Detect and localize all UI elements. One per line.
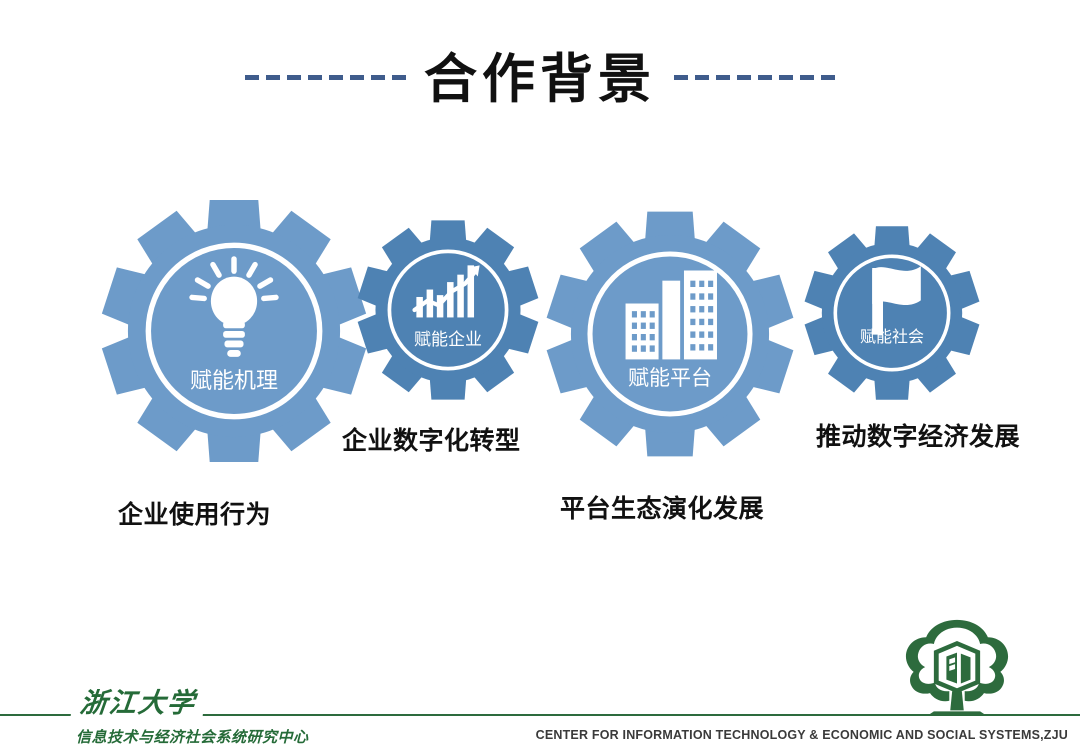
title-dashes-right — [674, 75, 835, 80]
gear-shape-1 — [98, 195, 370, 467]
slide-title-row: 合作背景 — [0, 52, 1080, 108]
center-name-cn: 信息技术与经济社会系统研究中心 — [76, 726, 309, 747]
gear-item-1[interactable]: 赋能机理 — [98, 195, 370, 467]
caption-2: 企业数字化转型 — [342, 421, 521, 457]
center-name-en: CENTER FOR INFORMATION TECHNOLOGY & ECON… — [536, 728, 1068, 742]
zju-wordmark: 浙江大学 — [71, 690, 206, 717]
gear-shape-2 — [355, 217, 541, 403]
gear-item-4[interactable]: 赋能社会 — [802, 223, 982, 403]
gear-item-3[interactable]: 赋能平台 — [543, 207, 797, 461]
slide-footer: 浙江大学 信息技术与经济社会系统研究中心 CENTER FOR INFORMAT… — [0, 626, 1080, 756]
gear-item-2[interactable]: 赋能企业 — [355, 217, 541, 403]
caption-4: 推动数字经济发展 — [816, 417, 1020, 453]
gear-shape-3 — [543, 207, 797, 461]
caption-1: 企业使用行为 — [118, 495, 271, 531]
title-dashes-left — [245, 75, 406, 80]
gear-shape-4 — [802, 223, 982, 403]
zju-tree-logo-icon — [899, 616, 1015, 722]
caption-3: 平台生态演化发展 — [560, 489, 764, 525]
slide-canvas: 合作背景 — [0, 0, 1080, 756]
page-title: 合作背景 — [424, 52, 656, 108]
